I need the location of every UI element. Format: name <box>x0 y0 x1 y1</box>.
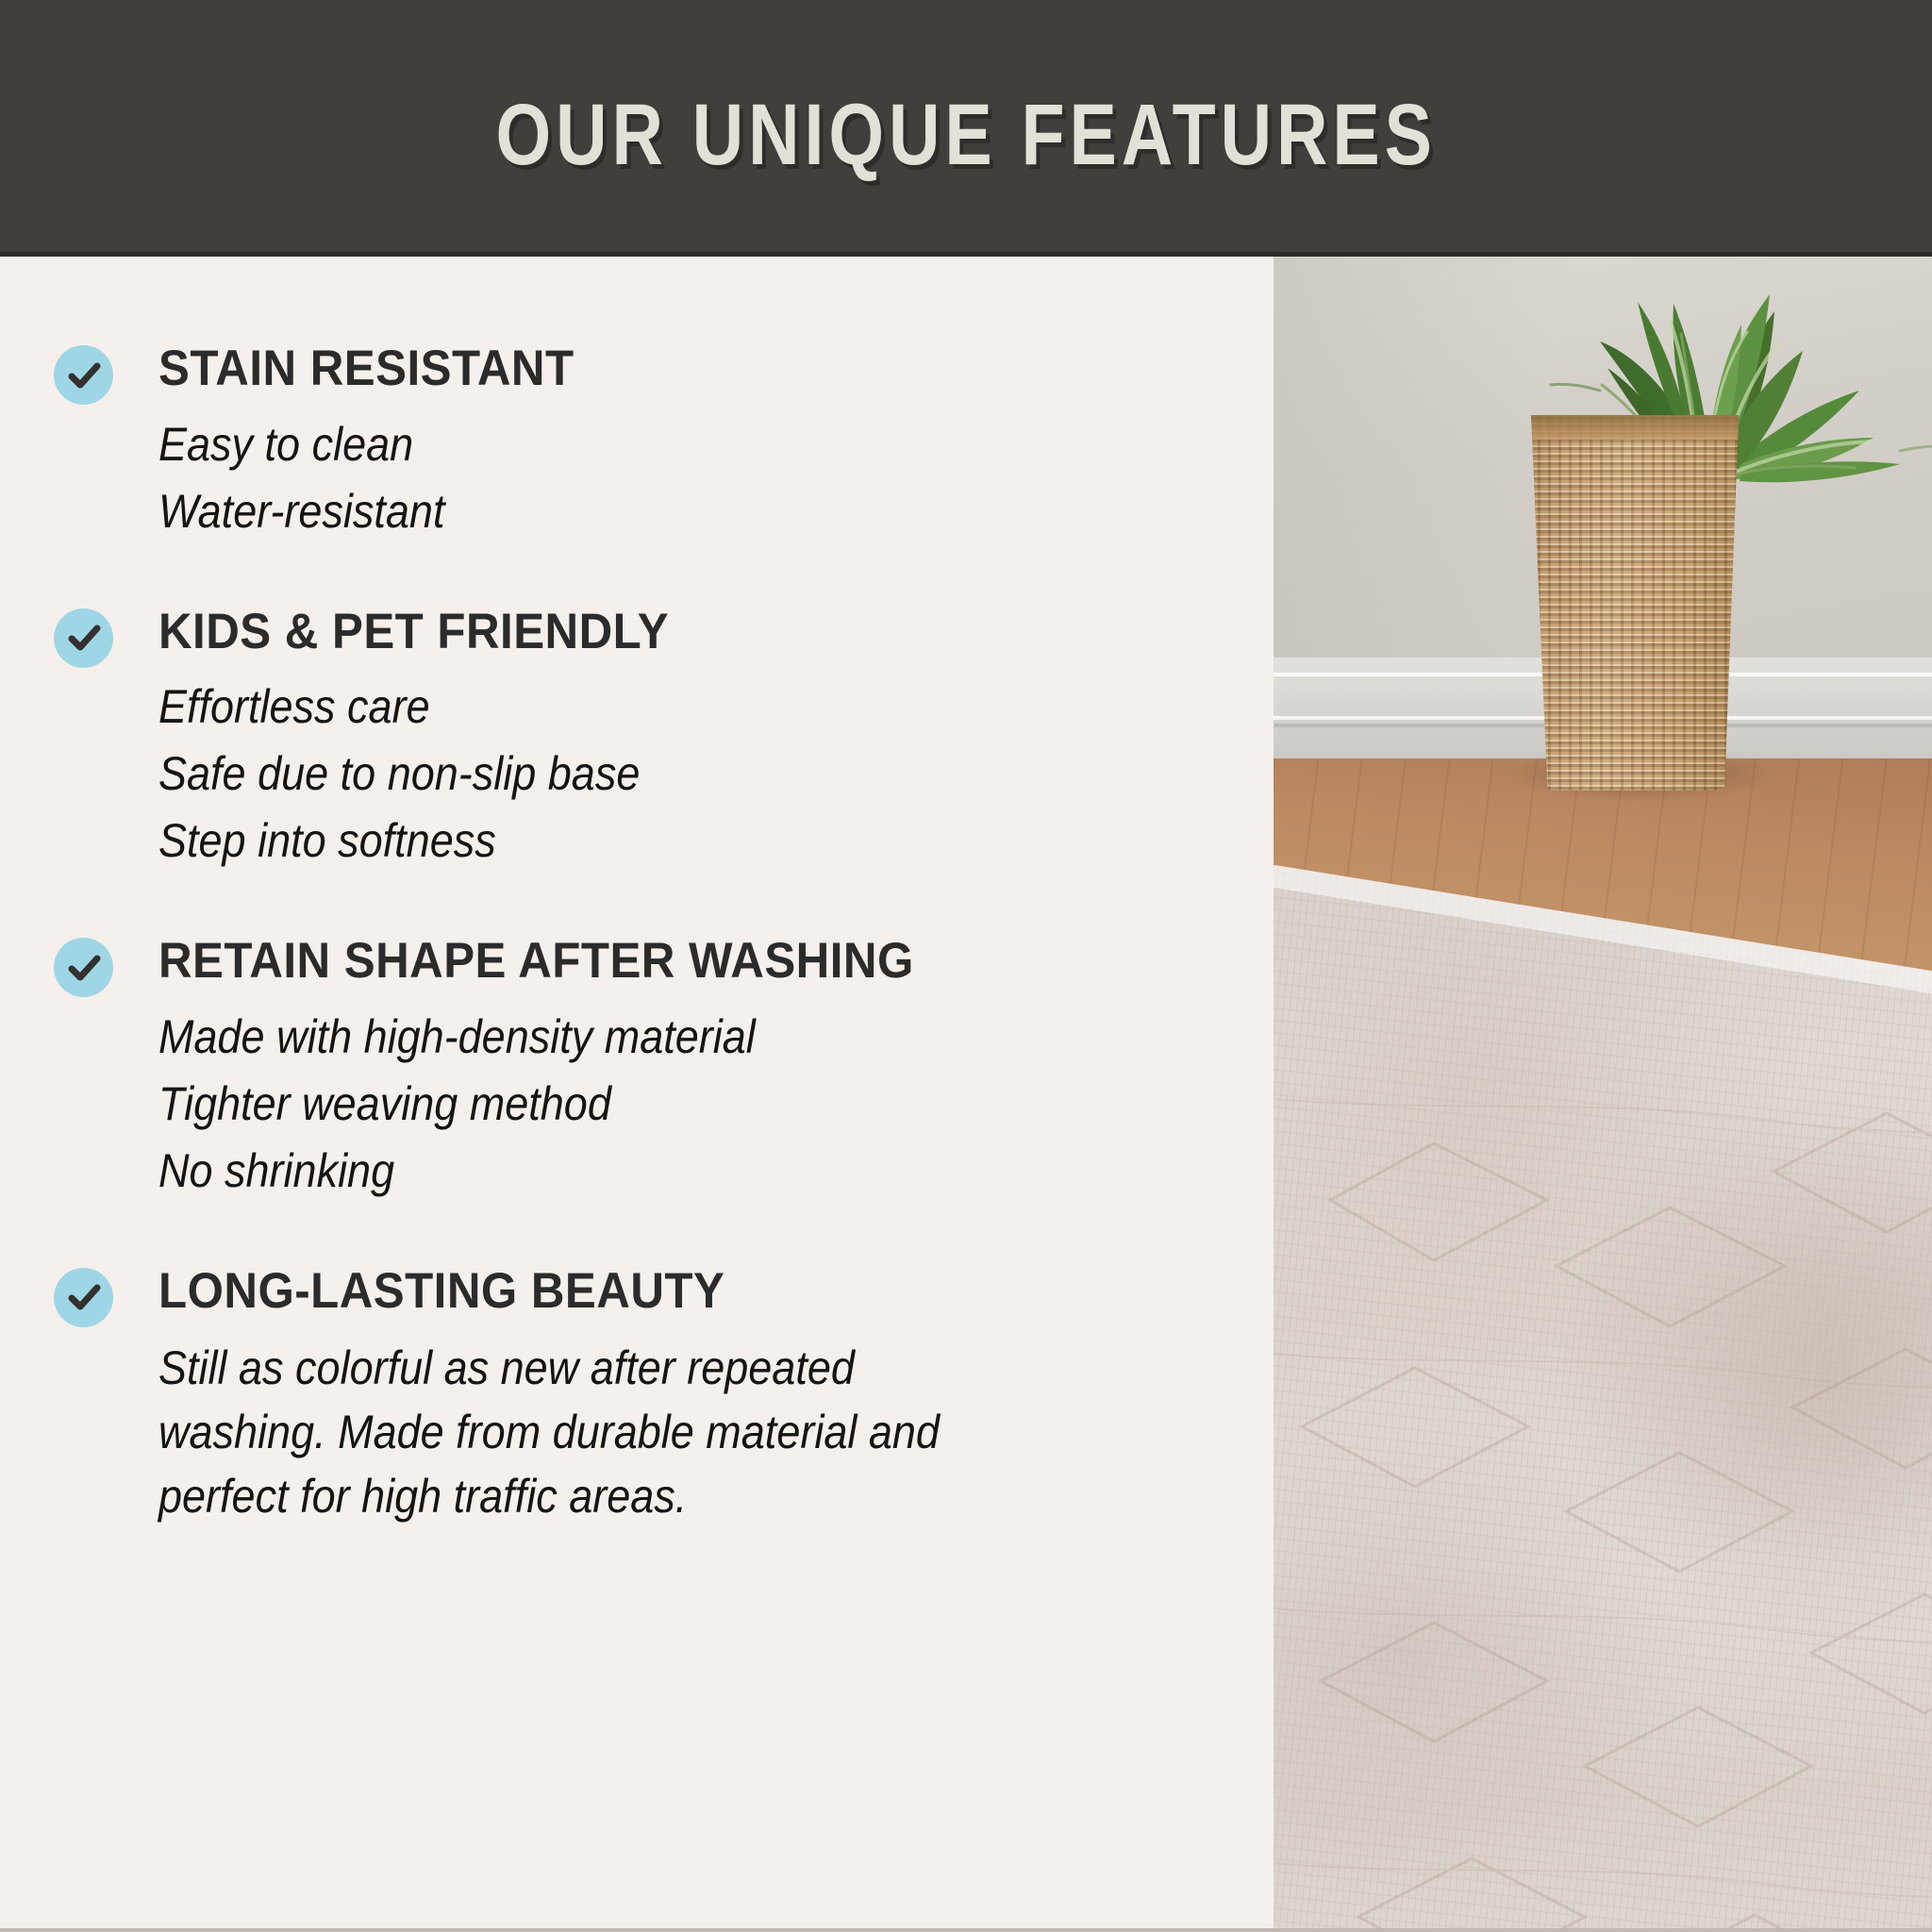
feature-block: RETAIN SHAPE AFTER WASHING Made with hig… <box>54 932 1217 1202</box>
feature-title: RETAIN SHAPE AFTER WASHING <box>158 932 1142 991</box>
check-circle-icon <box>54 608 113 668</box>
area-rug <box>1274 860 1932 1932</box>
feature-block: LONG-LASTING BEAUTY Still as colorful as… <box>54 1262 1217 1529</box>
bottom-border <box>0 1928 1932 1932</box>
feature-item: Easy to clean <box>158 414 1111 475</box>
infographic-page: OUR UNIQUE FEATURES STAIN RESISTANT Easy… <box>0 0 1932 1932</box>
feature-item-list: Easy to clean Water-resistant <box>158 414 1217 542</box>
check-circle-icon <box>54 1268 113 1327</box>
feature-item-list: Effortless care Safe due to non-slip bas… <box>158 676 1217 872</box>
features-panel: STAIN RESISTANT Easy to clean Water-resi… <box>0 257 1274 1932</box>
feature-paragraph: Still as colorful as new after repeated … <box>158 1336 1033 1528</box>
rug-pattern <box>1274 860 1932 1932</box>
page-title: OUR UNIQUE FEATURES <box>495 78 1436 178</box>
feature-title: KIDS & PET FRIENDLY <box>158 603 1142 662</box>
feature-item: Effortless care <box>158 676 1111 738</box>
feature-item: Safe due to non-slip base <box>158 743 1111 805</box>
feature-title: STAIN RESISTANT <box>158 340 1142 399</box>
feature-item: Water-resistant <box>158 481 1111 542</box>
room-photo <box>1274 257 1932 1932</box>
feature-item: Tighter weaving method <box>158 1074 1111 1135</box>
feature-item-list: Made with high-density material Tighter … <box>158 1007 1217 1202</box>
jute-planter <box>1517 415 1753 791</box>
feature-item: No shrinking <box>158 1141 1111 1202</box>
feature-item: Made with high-density material <box>158 1007 1111 1068</box>
planter-rim <box>1517 415 1753 440</box>
check-circle-icon <box>54 938 113 997</box>
header-banner: OUR UNIQUE FEATURES <box>0 0 1932 257</box>
feature-title: LONG-LASTING BEAUTY <box>158 1262 1142 1322</box>
feature-block: STAIN RESISTANT Easy to clean Water-resi… <box>54 340 1217 542</box>
planter-weave-texture <box>1517 415 1753 791</box>
feature-item: Step into softness <box>158 810 1111 872</box>
feature-block: KIDS & PET FRIENDLY Effortless care Safe… <box>54 603 1217 873</box>
check-circle-icon <box>54 345 113 405</box>
